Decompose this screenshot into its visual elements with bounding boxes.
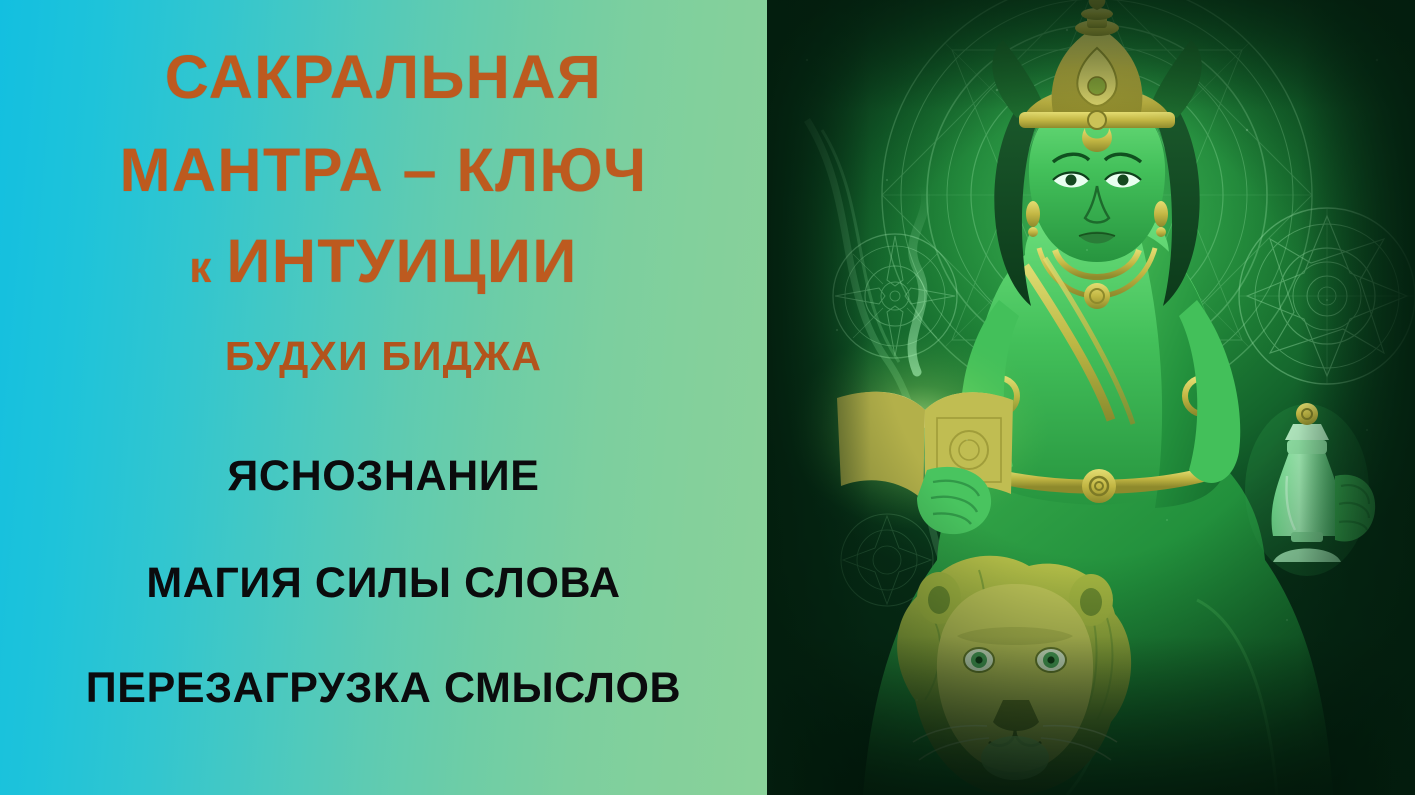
kicker-mantra-name: БУДХИ БИДЖА bbox=[18, 333, 749, 380]
benefit-item-2: МАГИЯ СИЛЫ СЛОВА bbox=[18, 559, 749, 608]
title-line-3-prefix: к bbox=[189, 243, 226, 292]
benefit-item-3: ПЕРЕЗАГРУЗКА СМЫСЛОВ bbox=[18, 664, 749, 713]
text-stack: САКРАЛЬНАЯ МАНТРА – КЛЮЧ к ИНТУИЦИИ БУДХ… bbox=[0, 0, 767, 795]
title-line-2: МАНТРА – КЛЮЧ bbox=[18, 141, 749, 200]
text-panel: САКРАЛЬНАЯ МАНТРА – КЛЮЧ к ИНТУИЦИИ БУДХ… bbox=[0, 0, 767, 795]
title-line-3-main: ИНТУИЦИИ bbox=[227, 227, 578, 295]
title-line-3: к ИНТУИЦИИ bbox=[18, 232, 749, 291]
poster-root: САКРАЛЬНАЯ МАНТРА – КЛЮЧ к ИНТУИЦИИ БУДХ… bbox=[0, 0, 1415, 795]
title-line-1: САКРАЛЬНАЯ bbox=[18, 48, 749, 107]
corner-shading bbox=[767, 0, 1415, 795]
benefit-item-1: ЯСНОЗНАНИЕ bbox=[18, 452, 749, 501]
artwork-panel bbox=[767, 0, 1415, 795]
